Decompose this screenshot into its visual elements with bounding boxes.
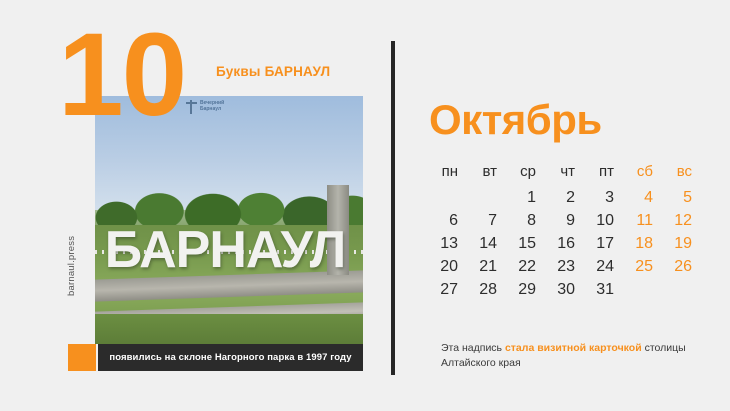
calendar-day-23[interactable]: 23 <box>540 255 579 278</box>
calendar-day-empty <box>618 278 657 301</box>
calendar-day-28[interactable]: 28 <box>462 278 501 301</box>
month-title: Октябрь <box>429 98 602 142</box>
right-panel: Октябрь пнвтсрчтптсбвс 12345678910111213… <box>395 0 730 411</box>
calendar-weekday-вт: вт <box>462 160 501 186</box>
footnote: Эта надпись стала визитной карточкой сто… <box>441 341 703 371</box>
calendar-day-27[interactable]: 27 <box>423 278 462 301</box>
calendar-week-row: 13141516171819 <box>423 232 696 255</box>
footnote-highlight: стала визитной карточкой <box>505 342 642 354</box>
footnote-pre: Эта надпись <box>441 342 505 354</box>
calendar-day-empty <box>462 186 501 209</box>
calendar-day-2[interactable]: 2 <box>540 186 579 209</box>
calendar-weekday-сб: сб <box>618 160 657 186</box>
press-logo-text: Вечерний Барнаул <box>200 101 224 112</box>
calendar-weekday-header-row: пнвтсрчтптсбвс <box>423 160 696 186</box>
caption-text: появились на склоне Нагорного парка в 19… <box>109 352 351 363</box>
calendar-grid: пнвтсрчтптсбвс 1234567891011121314151617… <box>423 160 696 301</box>
press-logo-mark-icon <box>186 100 197 114</box>
calendar-day-12[interactable]: 12 <box>657 209 696 232</box>
calendar-day-9[interactable]: 9 <box>540 209 579 232</box>
calendar-day-3[interactable]: 3 <box>579 186 618 209</box>
calendar-day-6[interactable]: 6 <box>423 209 462 232</box>
calendar-day-14[interactable]: 14 <box>462 232 501 255</box>
accent-square <box>68 344 96 371</box>
calendar-day-25[interactable]: 25 <box>618 255 657 278</box>
caption-bar: появились на склоне Нагорного парка в 19… <box>98 344 363 371</box>
calendar-day-24[interactable]: 24 <box>579 255 618 278</box>
calendar-day-15[interactable]: 15 <box>501 232 540 255</box>
topic-title: Буквы БАРНАУЛ <box>216 64 330 79</box>
calendar-day-31[interactable]: 31 <box>579 278 618 301</box>
calendar-day-11[interactable]: 11 <box>618 209 657 232</box>
calendar-day-22[interactable]: 22 <box>501 255 540 278</box>
calendar-day-13[interactable]: 13 <box>423 232 462 255</box>
calendar-weekday-пн: пн <box>423 160 462 186</box>
calendar-day-30[interactable]: 30 <box>540 278 579 301</box>
calendar-weekday-пт: пт <box>579 160 618 186</box>
photo-grass <box>95 314 363 344</box>
photo-sign-letters-text: БАРНАУЛ <box>99 190 351 274</box>
calendar-day-16[interactable]: 16 <box>540 232 579 255</box>
calendar-day-18[interactable]: 18 <box>618 232 657 255</box>
press-logo-line2: Барнаул <box>200 106 221 112</box>
calendar-week-row: 20212223242526 <box>423 255 696 278</box>
calendar-day-19[interactable]: 19 <box>657 232 696 255</box>
calendar-week-row: 6789101112 <box>423 209 696 232</box>
calendar-day-1[interactable]: 1 <box>501 186 540 209</box>
calendar-day-17[interactable]: 17 <box>579 232 618 255</box>
calendar-day-20[interactable]: 20 <box>423 255 462 278</box>
calendar-day-29[interactable]: 29 <box>501 278 540 301</box>
calendar-weekday-чт: чт <box>540 160 579 186</box>
calendar-weekday-ср: ср <box>501 160 540 186</box>
calendar-day-7[interactable]: 7 <box>462 209 501 232</box>
calendar-week-row: 12345 <box>423 186 696 209</box>
press-logo: Вечерний Барнаул <box>186 100 224 114</box>
photo-credit: barnaul.press <box>66 236 77 296</box>
calendar-week-row: 2728293031 <box>423 278 696 301</box>
calendar-day-empty <box>657 278 696 301</box>
day-number: 10 <box>58 16 185 134</box>
left-panel: 10 Буквы БАРНАУЛ БАРНАУЛ Вечерний Барнау… <box>0 0 393 411</box>
calendar-day-4[interactable]: 4 <box>618 186 657 209</box>
calendar-day-26[interactable]: 26 <box>657 255 696 278</box>
calendar-day-8[interactable]: 8 <box>501 209 540 232</box>
calendar-page: 10 Буквы БАРНАУЛ БАРНАУЛ Вечерний Барнау… <box>0 0 730 411</box>
calendar-weekday-вс: вс <box>657 160 696 186</box>
calendar-day-21[interactable]: 21 <box>462 255 501 278</box>
calendar-day-empty <box>423 186 462 209</box>
calendar-day-5[interactable]: 5 <box>657 186 696 209</box>
calendar-day-10[interactable]: 10 <box>579 209 618 232</box>
